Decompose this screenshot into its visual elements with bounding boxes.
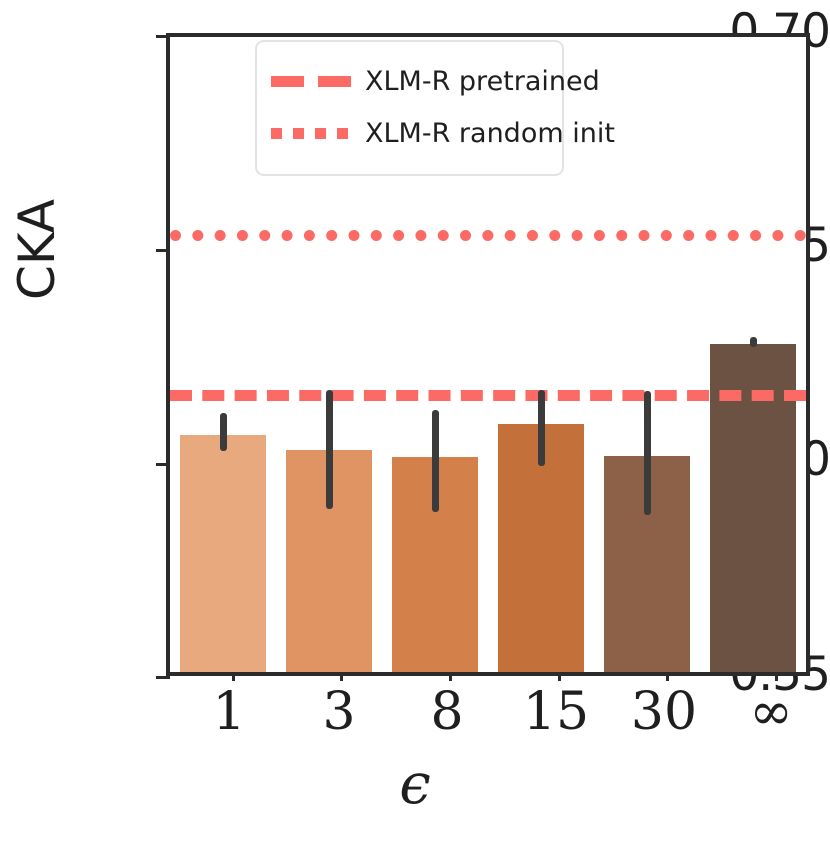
x-tick-mark-inf — [775, 672, 778, 681]
error-bar-3 — [326, 390, 333, 509]
error-bar-15 — [538, 390, 545, 466]
chart-figure: CKA 0.70 0.65 0.60 0.55 1 3 8 15 30 ∞ ϵ … — [0, 0, 830, 841]
reference-line-random-init — [170, 230, 806, 241]
x-tick-mark-8 — [449, 672, 452, 681]
chart-legend: XLM-R pretrained XLM-R random init — [255, 40, 564, 176]
y-tick-mark-0-65 — [156, 249, 170, 252]
legend-label-pretrained: XLM-R pretrained — [365, 66, 600, 97]
x-tick-label-3: 3 — [294, 686, 384, 738]
dashed-line-icon — [271, 76, 351, 87]
x-tick-mark-1 — [232, 672, 235, 681]
y-tick-mark-0-70 — [156, 35, 170, 38]
error-bar-∞ — [750, 337, 757, 347]
x-tick-label-30: 30 — [619, 686, 709, 738]
bar-1 — [180, 435, 267, 672]
x-tick-label-8: 8 — [402, 686, 492, 738]
error-bar-30 — [644, 391, 651, 515]
legend-item-pretrained: XLM-R pretrained — [271, 55, 548, 107]
legend-item-random-init: XLM-R random init — [271, 107, 548, 159]
y-axis-title: CKA — [12, 199, 62, 300]
dotted-line-icon — [271, 128, 351, 139]
x-tick-label-1: 1 — [184, 686, 274, 738]
x-tick-label-15: 15 — [511, 686, 601, 738]
y-tick-mark-0-55 — [156, 676, 170, 679]
y-tick-mark-0-60 — [156, 463, 170, 466]
error-bar-1 — [220, 413, 227, 451]
x-tick-label-inf: ∞ — [726, 686, 816, 738]
x-tick-mark-15 — [558, 672, 561, 681]
x-axis-title: ϵ — [0, 757, 830, 813]
x-tick-mark-3 — [340, 672, 343, 681]
error-bar-8 — [432, 410, 439, 512]
x-tick-mark-30 — [666, 672, 669, 681]
legend-label-random-init: XLM-R random init — [365, 118, 615, 149]
reference-line-pretrained — [170, 390, 806, 401]
